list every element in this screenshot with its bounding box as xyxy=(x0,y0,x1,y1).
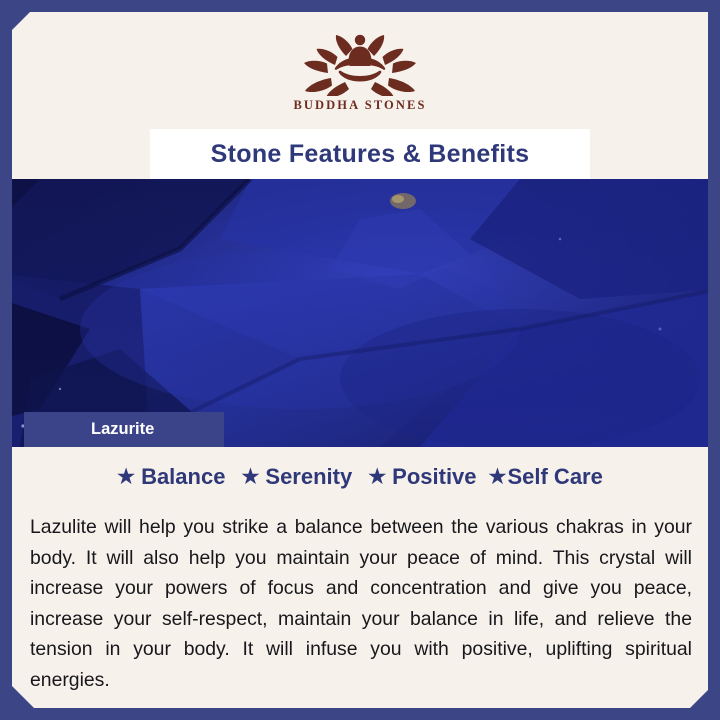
stone-caption-label: Lazurite xyxy=(24,420,154,439)
corner-accent-top-left xyxy=(0,0,26,26)
stone-photo xyxy=(12,179,708,447)
lazurite-photo-graphic xyxy=(12,179,708,447)
page-title-band: Stone Features & Benefits xyxy=(150,129,590,179)
keyword-item: ★ Self Care xyxy=(477,464,603,490)
star-icon: ★ xyxy=(117,467,135,487)
keyword-item: ★ Balance xyxy=(117,464,225,490)
brand-logo-area: BUDDHA STONES xyxy=(12,12,708,127)
star-icon: ★ xyxy=(241,467,259,487)
corner-accent-card-bottom-left xyxy=(12,686,34,708)
star-icon: ★ xyxy=(489,467,507,487)
keyword-item: ★ Positive xyxy=(352,464,476,490)
brand-name: BUDDHA STONES xyxy=(293,98,426,113)
keyword-label: Self Care xyxy=(507,464,602,490)
corner-accent-bottom-right xyxy=(694,694,720,720)
keyword-row: ★ Balance ★ Serenity ★ Positive ★ Self C… xyxy=(12,464,708,490)
star-icon: ★ xyxy=(368,467,386,487)
page-title: Stone Features & Benefits xyxy=(211,140,530,169)
keyword-label: Balance xyxy=(141,464,225,490)
content-card: BUDDHA STONES Stone Features & Benefits xyxy=(12,12,708,708)
description-paragraph: Lazulite will help you strike a balance … xyxy=(30,512,692,695)
stone-caption-badge: Lazurite xyxy=(24,412,224,447)
keyword-label: Positive xyxy=(392,464,476,490)
lotus-meditation-icon xyxy=(285,30,435,96)
keyword-item: ★ Serenity xyxy=(225,464,352,490)
keyword-label: Serenity xyxy=(265,464,352,490)
poster-page: BUDDHA STONES Stone Features & Benefits xyxy=(0,0,720,720)
